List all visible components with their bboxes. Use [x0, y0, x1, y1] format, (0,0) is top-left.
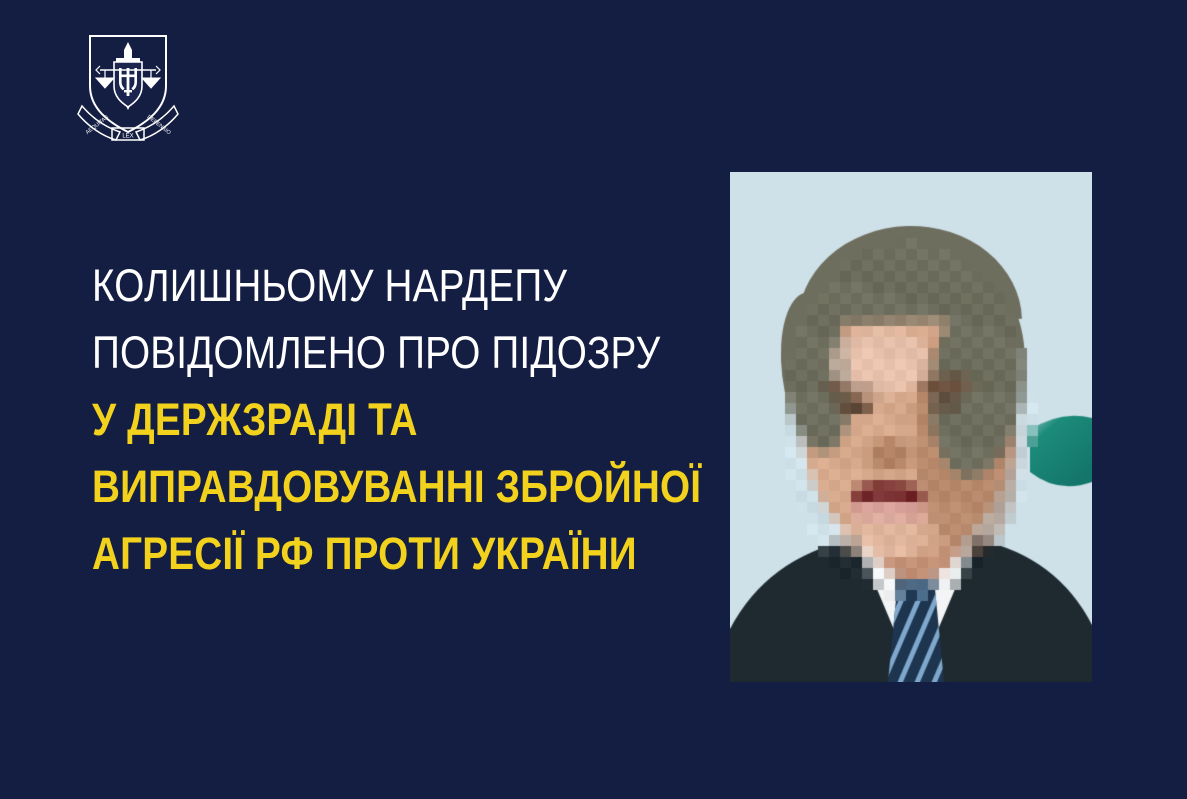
headline-line-5: АГРЕСІЇ РФ ПРОТИ УКРАЇНИ	[92, 520, 642, 587]
headline-line-4: ВИПРАВДОВУВАННІ ЗБРОЙНОЇ	[92, 453, 642, 520]
portrait-canvas	[730, 172, 1092, 682]
announcement-card: AEQUITAS LEX DEFENSIO КОЛИШНЬОМУ НАРДЕПУ…	[0, 0, 1187, 799]
headline-line-1: КОЛИШНЬОМУ НАРДЕПУ	[92, 252, 642, 319]
headline-line-2: ПОВІДОМЛЕНО ПРО ПІДОЗРУ	[92, 319, 642, 386]
headline-line-3: У ДЕРЖЗРАДІ ТА	[92, 386, 642, 453]
pixelated-portrait-photo	[730, 172, 1092, 682]
prosecutor-general-emblem-icon: AEQUITAS LEX DEFENSIO	[76, 28, 180, 144]
emblem-ribbon-center-text: LEX	[122, 134, 133, 140]
headline-block: КОЛИШНЬОМУ НАРДЕПУ ПОВІДОМЛЕНО ПРО ПІДОЗ…	[92, 252, 732, 587]
